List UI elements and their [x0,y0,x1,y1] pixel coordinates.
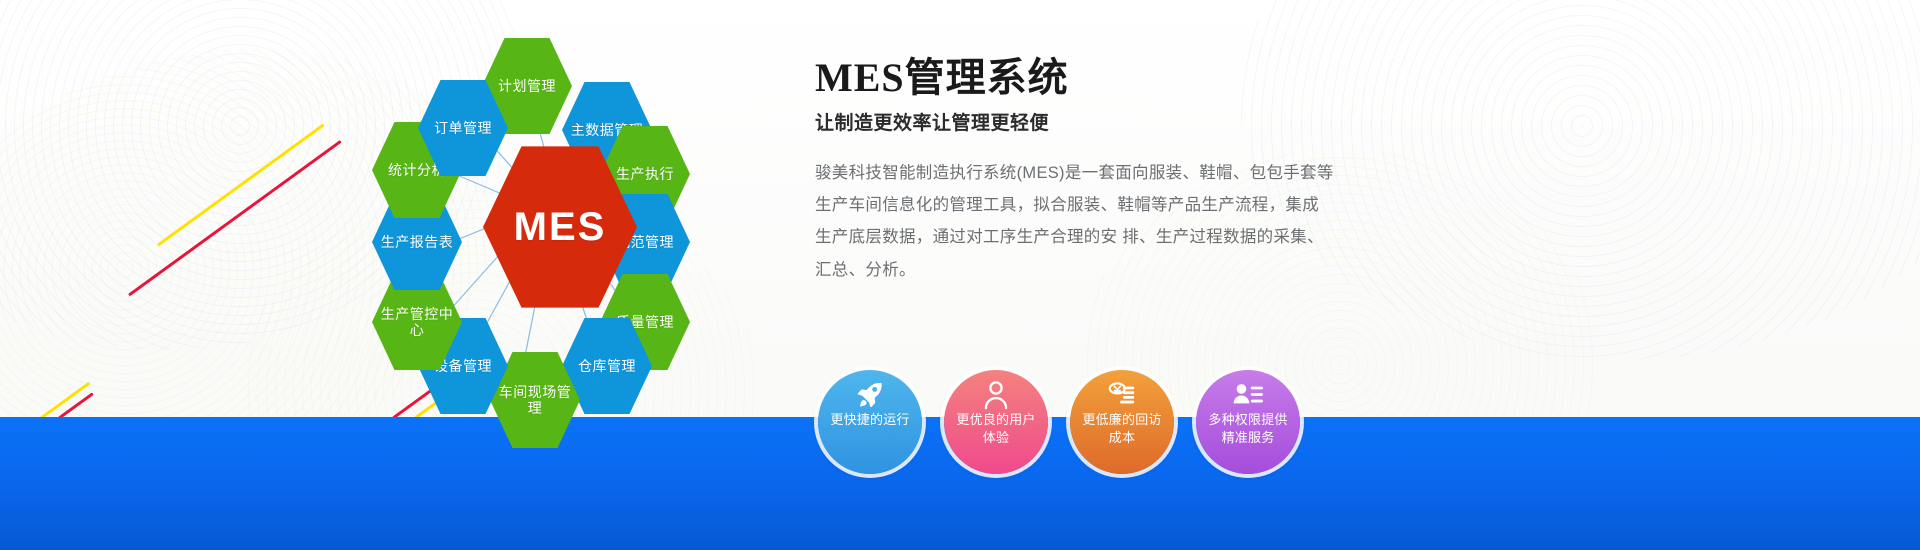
id-card-icon [1232,381,1264,409]
user-icon [982,381,1010,409]
mes-hex-diagram: 计划管理主数据管理生产执行规范管理质量管理仓库管理车间现场管理设备管理生产管控中… [330,10,790,440]
feature-badge-speed[interactable]: 更快捷的运行 [818,370,922,474]
hex-node-label: 订单管理 [430,120,496,136]
page-subtitle: 让制造更效率让管理更轻便 [815,108,1335,135]
hex-node-label: 车间现场管理 [490,384,580,416]
feature-badge-permissions[interactable]: 多种权限提供精准服务 [1196,370,1300,474]
feature-badge-label: 多种权限提供精准服务 [1196,409,1300,446]
page-description: 骏美科技智能制造执行系统(MES)是一套面向服装、鞋帽、包包手套等生产车间信息化… [815,157,1335,286]
hex-node-label: 仓库管理 [574,358,640,374]
banner-stage: 计划管理主数据管理生产执行规范管理质量管理仓库管理车间现场管理设备管理生产管控中… [0,0,1920,550]
feature-badge-label: 更快捷的运行 [824,409,915,429]
hex-node-label: 计划管理 [494,78,560,94]
feature-badge-experience[interactable]: 更优良的用户体验 [944,370,1048,474]
hex-center-label: MES [510,204,611,250]
hex-node-label: 生产执行 [612,166,678,182]
feature-badge-label: 更优良的用户体验 [944,409,1048,446]
page-title: MES管理系统 [815,56,1335,100]
hex-node-label: 生产管控中心 [372,306,462,338]
feature-badge-cost[interactable]: 更低廉的回访成本 [1070,370,1174,474]
banner-copy: MES管理系统 让制造更效率让管理更轻便 骏美科技智能制造执行系统(MES)是一… [815,56,1335,286]
money-icon [1107,381,1137,409]
feature-badge-label: 更低廉的回访成本 [1070,409,1174,446]
feature-badges: 更快捷的运行 更优良的用户体验 [818,370,1300,474]
hex-node-label: 生产报告表 [377,234,458,250]
rocket-icon [855,381,885,409]
